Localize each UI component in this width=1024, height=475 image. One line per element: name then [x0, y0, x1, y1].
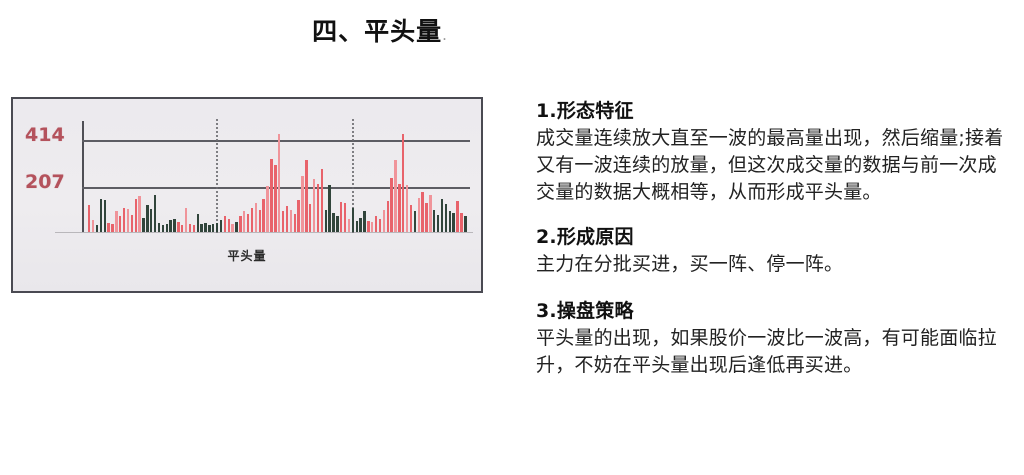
volume-bar: [460, 213, 462, 232]
volume-bar: [228, 219, 230, 232]
volume-bar: [212, 224, 214, 232]
volume-bar: [418, 198, 420, 232]
section-2-heading: 2.形成原因: [536, 224, 1014, 251]
volume-bar: [449, 211, 451, 232]
volume-bar: [162, 225, 164, 232]
volume-bar: [92, 220, 94, 232]
volume-bar: [193, 225, 195, 232]
volume-bar: [235, 222, 237, 232]
volume-bar: [231, 224, 233, 232]
volume-bar: [278, 134, 280, 232]
volume-bar: [387, 201, 389, 232]
volume-bar: [104, 200, 106, 232]
section-form-features: 1.形态特征 成交量连续放大直至一波的最高量出现，然后缩量;接着又有一波连续的放…: [536, 98, 1014, 206]
volume-bar: [464, 216, 466, 232]
volume-bar: [363, 211, 365, 232]
volume-bar: [402, 134, 404, 232]
volume-bar: [262, 199, 264, 232]
volume-bar: [185, 208, 187, 232]
volume-bar: [111, 224, 113, 232]
volume-bar: [166, 224, 168, 232]
page-title-trailing-mark: .: [442, 26, 448, 44]
volume-bar: [437, 215, 439, 232]
volume-bar: [313, 179, 315, 232]
volume-bar: [286, 206, 288, 232]
volume-bar: [456, 201, 458, 232]
volume-bar: [282, 211, 284, 232]
page-title-text: 四、平头量: [312, 17, 442, 46]
volume-bar: [181, 225, 183, 232]
volume-bar: [305, 160, 307, 232]
volume-bar: [204, 223, 206, 232]
explanation-text-column: 1.形态特征 成交量连续放大直至一波的最高量出现，然后缩量;接着又有一波连续的放…: [536, 98, 1014, 379]
section-1-body: 成交量连续放大直至一波的最高量出现，然后缩量;接着又有一波连续的放量，但这次成交…: [536, 125, 1014, 206]
volume-bar: [115, 211, 117, 232]
volume-bar: [371, 222, 373, 232]
volume-bar: [131, 215, 133, 232]
volume-bar: [239, 216, 241, 232]
volume-bar: [301, 176, 303, 232]
section-3-body: 平头量的出现，如果股价一波比一波高，有可能面临拉升，不妨在平头量出现后逢低再买进…: [536, 325, 1014, 379]
volume-bar: [158, 223, 160, 232]
volume-bar: [344, 203, 346, 232]
volume-bar: [294, 214, 296, 232]
volume-bar: [224, 216, 226, 232]
volume-bar: [107, 223, 109, 232]
volume-bar: [425, 203, 427, 232]
volume-bar: [123, 208, 125, 232]
volume-bar: [177, 222, 179, 232]
section-formation-reason: 2.形成原因 主力在分批买进，买一阵、停一阵。: [536, 224, 1014, 278]
volume-bar: [197, 214, 199, 232]
volume-bar: [200, 224, 202, 232]
volume-bar: [290, 210, 292, 232]
volume-bar: [325, 210, 327, 232]
volume-bar: [317, 184, 319, 232]
volume-bar: [146, 205, 148, 232]
volume-bar: [135, 199, 137, 232]
volume-bar: [421, 192, 423, 232]
volume-bar: [169, 220, 171, 232]
volume-bar: [321, 169, 323, 232]
volume-bar: [406, 185, 408, 232]
volume-chart-panel: 414 207 平头量: [11, 97, 483, 293]
volume-bar: [127, 209, 129, 232]
volume-bar: [138, 196, 140, 232]
page-title: 四、平头量.: [0, 12, 760, 48]
volume-bar: [390, 178, 392, 232]
volume-bar: [270, 159, 272, 232]
volume-bar: [383, 210, 385, 232]
volume-bar: [445, 204, 447, 232]
volume-bar: [379, 219, 381, 232]
volume-bar: [309, 204, 311, 232]
section-2-body: 主力在分批买进，买一阵、停一阵。: [536, 251, 1014, 278]
volume-bar: [375, 216, 377, 232]
volume-bar: [150, 209, 152, 232]
volume-bar: [352, 208, 354, 232]
volume-bar: [367, 221, 369, 232]
volume-bar: [251, 208, 253, 232]
volume-bar: [208, 225, 210, 232]
volume-bar: [297, 200, 299, 232]
volume-bar: [189, 224, 191, 232]
volume-bar: [394, 160, 396, 232]
volume-bar: [348, 219, 350, 232]
volume-bar: [259, 210, 261, 232]
volume-bar: [410, 205, 412, 232]
volume-bar: [247, 214, 249, 232]
volume-bar: [414, 211, 416, 232]
volume-bar: [356, 221, 358, 232]
section-1-heading: 1.形态特征: [536, 98, 1014, 125]
volume-bar: [429, 195, 431, 232]
volume-chart-plot-area: 414 207 平头量: [13, 99, 481, 291]
volume-bar: [433, 210, 435, 232]
volume-bar: [255, 203, 257, 232]
volume-bar: [266, 186, 268, 232]
chart-caption: 平头量: [13, 247, 481, 264]
volume-bar: [336, 216, 338, 232]
section-trading-strategy: 3.操盘策略 平头量的出现，如果股价一波比一波高，有可能面临拉升，不妨在平头量出…: [536, 298, 1014, 379]
volume-bar: [154, 195, 156, 232]
volume-bar: [274, 165, 276, 232]
volume-bar: [142, 218, 144, 232]
volume-bar: [100, 199, 102, 232]
volume-bar: [96, 225, 98, 232]
volume-bar: [216, 223, 218, 232]
volume-bar: [328, 185, 330, 232]
volume-bar: [398, 184, 400, 232]
volume-bar: [441, 199, 443, 232]
volume-bar: [340, 202, 342, 232]
volume-bar: [119, 216, 121, 232]
volume-bar: [88, 205, 90, 232]
section-3-heading: 3.操盘策略: [536, 298, 1014, 325]
volume-bar: [220, 220, 222, 232]
volume-bar: [173, 219, 175, 232]
volume-bar: [359, 218, 361, 232]
volume-bar: [243, 211, 245, 232]
volume-bar: [332, 213, 334, 232]
volume-bar: [452, 213, 454, 232]
